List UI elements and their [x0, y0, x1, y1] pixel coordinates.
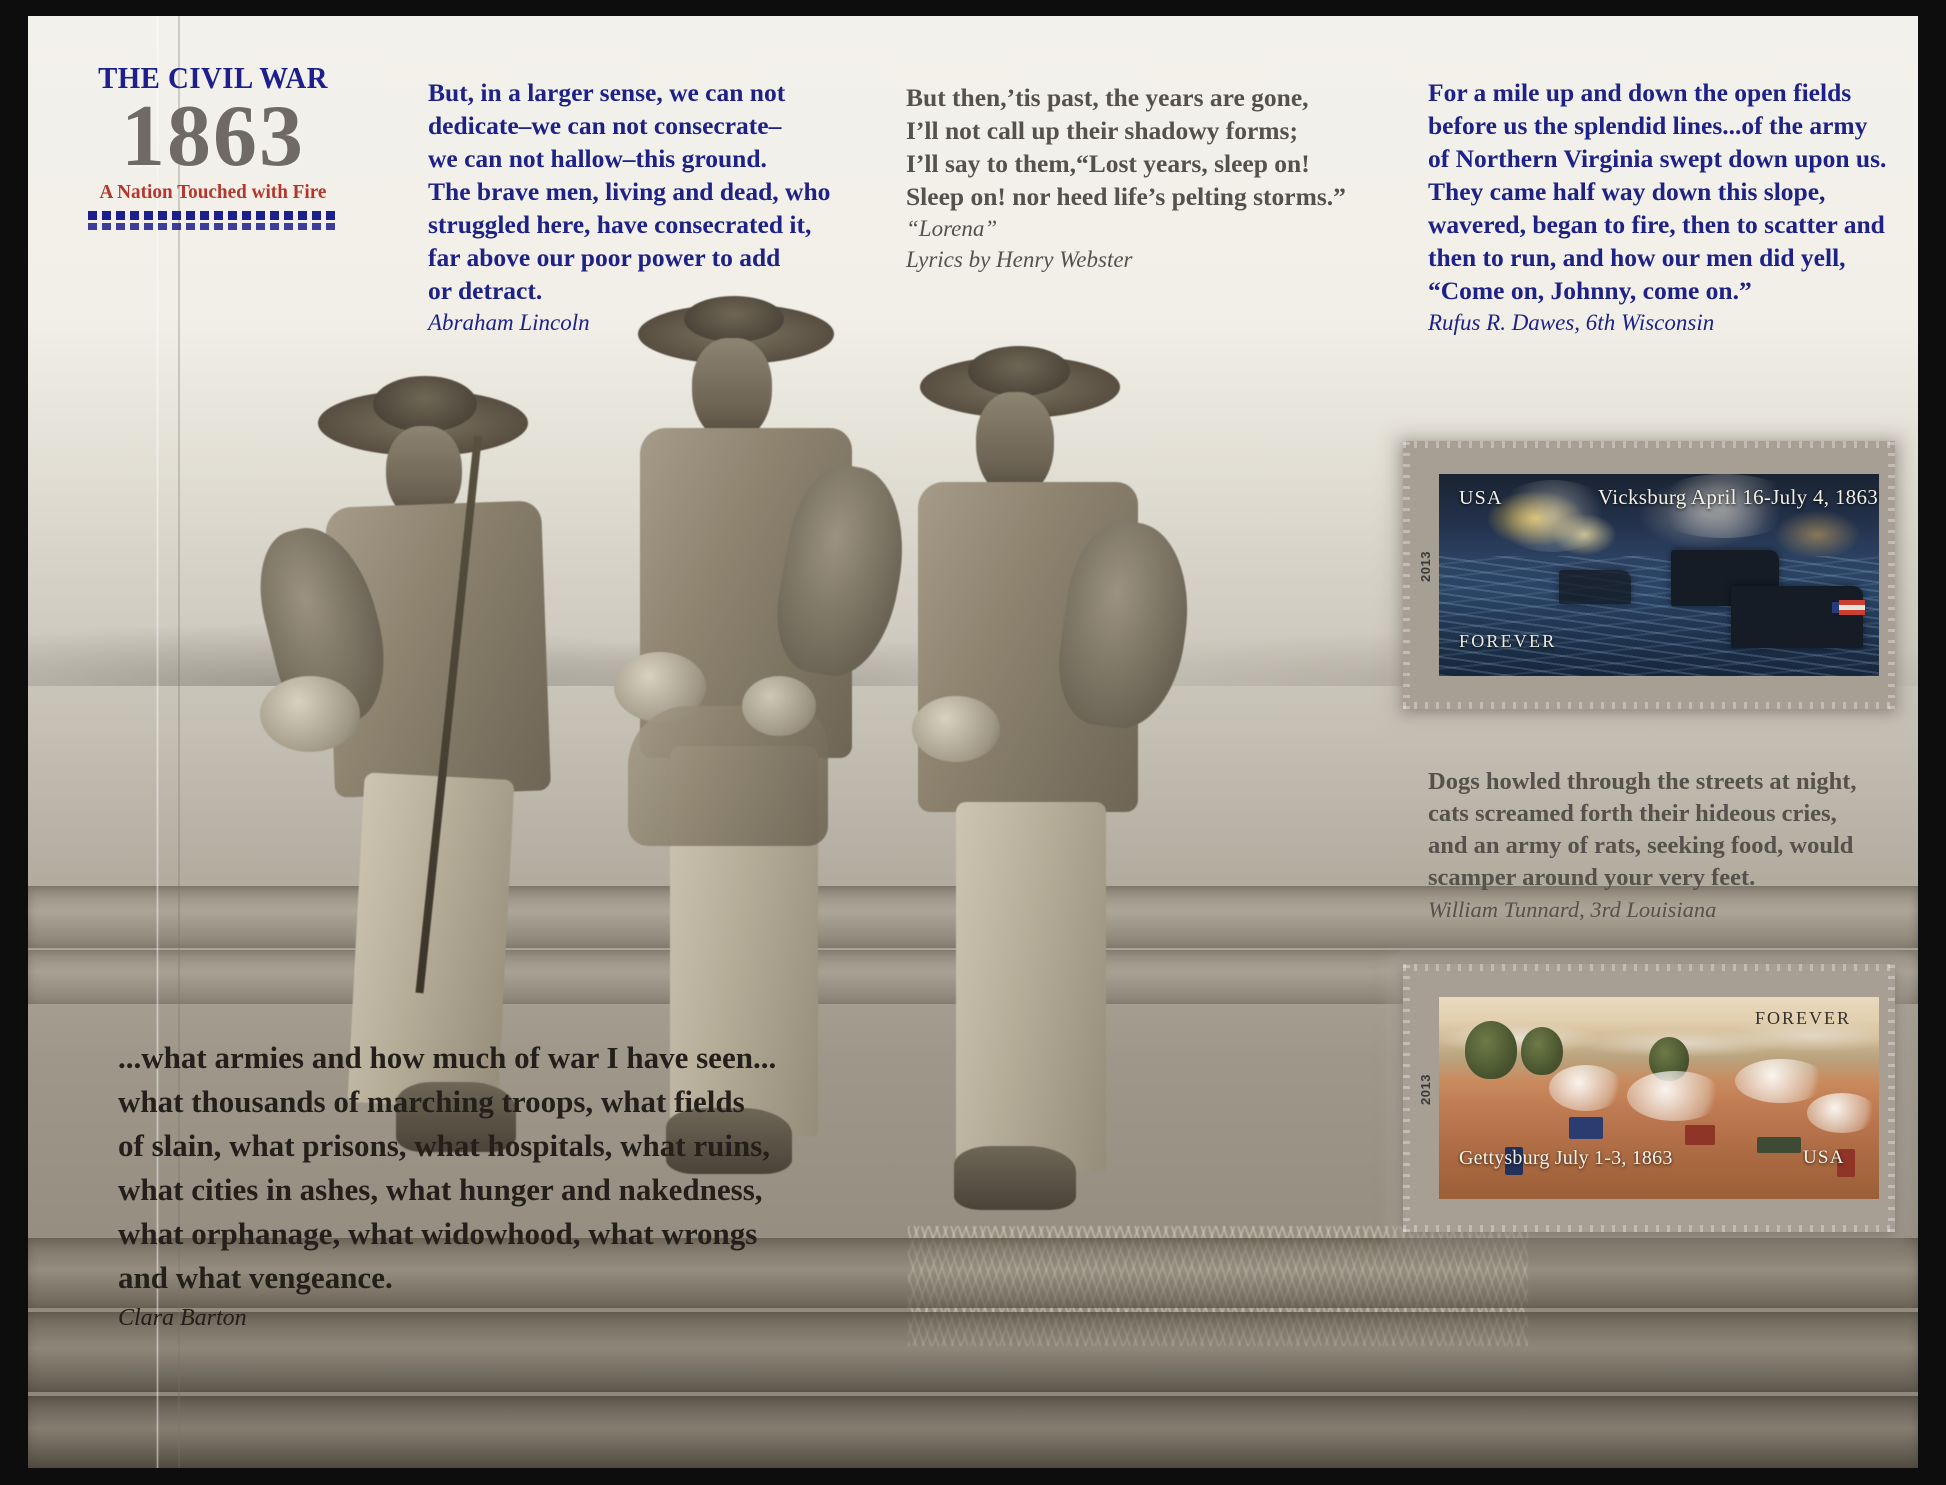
ironclad-gunboat — [1559, 570, 1631, 604]
stamp-title: Vicksburg April 16-July 4, 1863 — [1598, 485, 1878, 510]
battle-smoke — [1735, 1059, 1827, 1103]
quote-line: They came half way down this slope, — [1428, 175, 1886, 208]
stamp-souvenir-sheet: THE CIVIL WAR 1863 A Nation Touched with… — [28, 16, 1918, 1468]
quote-line: But, in a larger sense, we can not — [428, 76, 830, 109]
log-fence-rail — [28, 1396, 1918, 1468]
quote-line: I’ll not call up their shadowy forms; — [906, 114, 1346, 147]
stamp-gettysburg[interactable]: 2013 FOREVER Gettysburg July 1-3, 1863 U… — [1403, 964, 1895, 1232]
cannon-figure — [1757, 1137, 1801, 1153]
stamp-country: USA — [1459, 487, 1503, 510]
quote-line: wavered, began to fire, then to scatter … — [1428, 208, 1886, 241]
battle-smoke — [1807, 1093, 1877, 1133]
quote-line: The brave men, living and dead, who — [428, 175, 830, 208]
soldier-legs — [956, 802, 1106, 1172]
tin-cup-icon — [742, 676, 816, 736]
logo-rule-bottom — [88, 223, 338, 230]
quote-line: what cities in ashes, what hunger and na… — [118, 1168, 776, 1212]
quote-line: But then,’tis past, the years are gone, — [906, 81, 1346, 114]
quote-dawes: For a mile up and down the open fields b… — [1428, 76, 1886, 338]
slouch-hat-icon — [373, 376, 477, 432]
quote-line: before us the splendid lines...of the ar… — [1428, 109, 1886, 142]
stamp-title: Gettysburg July 1-3, 1863 — [1459, 1147, 1673, 1170]
quote-tunnard: Dogs howled through the streets at night… — [1428, 766, 1857, 925]
quote-line: of Northern Virginia swept down upon us. — [1428, 142, 1886, 175]
soldier-head — [692, 338, 772, 442]
quote-line: we can not hallow–this ground. — [428, 142, 830, 175]
quote-attribution: William Tunnard, 3rd Louisiana — [1428, 894, 1857, 925]
quote-song-title: “Lorena” — [906, 213, 1346, 244]
quote-line: what orphanage, what widowhood, what wro… — [118, 1212, 776, 1256]
slouch-hat-icon — [968, 346, 1070, 396]
crouching-figure — [628, 706, 828, 926]
quote-line: far above our poor power to add — [428, 241, 830, 274]
quote-lorena: But then,’tis past, the years are gone, … — [906, 81, 1346, 275]
logo-tagline: A Nation Touched with Fire — [93, 181, 333, 204]
battle-smoke — [1627, 1071, 1723, 1121]
quote-line: cats screamed forth their hideous cries, — [1428, 798, 1857, 830]
quote-line: what thousands of marching troops, what … — [118, 1080, 776, 1124]
battle-smoke — [1549, 1065, 1623, 1111]
stamp-denomination: FOREVER — [1459, 631, 1556, 652]
quote-attribution: Rufus R. Dawes, 6th Wisconsin — [1428, 307, 1886, 338]
tree-icon — [1465, 1021, 1517, 1079]
quote-line: I’ll say to them,“Lost years, sleep on! — [906, 147, 1346, 180]
logo-year: 1863 — [88, 95, 338, 179]
quote-line: dedicate–we can not consecrate– — [428, 109, 830, 142]
quote-line: and what vengeance. — [118, 1256, 776, 1300]
quote-line: and an army of rats, seeking food, would — [1428, 830, 1857, 862]
stamp-vicksburg[interactable]: 2013 USA Vicksburg April 16-July 4, 1863… — [1403, 441, 1895, 709]
stamp-denomination: FOREVER — [1755, 1008, 1851, 1029]
quote-attribution: Clara Barton — [118, 1300, 776, 1336]
cavalry-figure — [1569, 1117, 1603, 1139]
quote-line: ...what armies and how much of war I hav… — [118, 1036, 776, 1080]
quote-line: For a mile up and down the open fields — [1428, 76, 1886, 109]
quote-attribution: Lyrics by Henry Webster — [906, 244, 1346, 275]
quote-line: “Come on, Johnny, come on.” — [1428, 274, 1886, 307]
quote-line: scamper around your very feet. — [1428, 862, 1857, 894]
quote-line: Dogs howled through the streets at night… — [1428, 766, 1857, 798]
quote-lincoln: But, in a larger sense, we can not dedic… — [428, 76, 830, 338]
quote-line: Sleep on! nor heed life’s pelting storms… — [906, 180, 1346, 213]
stamp-country: USA — [1803, 1147, 1845, 1169]
logo-title: THE CIVIL WAR — [97, 62, 330, 93]
civil-war-1863-logo: THE CIVIL WAR 1863 A Nation Touched with… — [88, 62, 338, 230]
cavalry-figure — [1685, 1125, 1715, 1145]
smoke-plume — [1493, 480, 1613, 552]
soldier-boot — [954, 1146, 1076, 1210]
tree-icon — [1521, 1027, 1563, 1075]
quote-line: struggled here, have consecrated it, — [428, 208, 830, 241]
quote-barton: ...what armies and how much of war I hav… — [118, 1036, 776, 1336]
canteen-icon — [912, 696, 1000, 762]
soldier-figure-right — [868, 346, 1208, 1206]
stamp-year: 2013 — [1418, 1074, 1433, 1105]
logo-rule-top — [88, 211, 338, 220]
quote-line: of slain, what prisons, what hospitals, … — [118, 1124, 776, 1168]
stamp-year: 2013 — [1418, 551, 1433, 582]
union-flag-icon — [1839, 600, 1865, 615]
quote-attribution: Abraham Lincoln — [428, 307, 830, 338]
quote-line: or detract. — [428, 274, 830, 307]
canteen-icon — [260, 676, 360, 752]
ironclad-gunboat — [1731, 586, 1863, 648]
quote-line: then to run, and how our men did yell, — [1428, 241, 1886, 274]
